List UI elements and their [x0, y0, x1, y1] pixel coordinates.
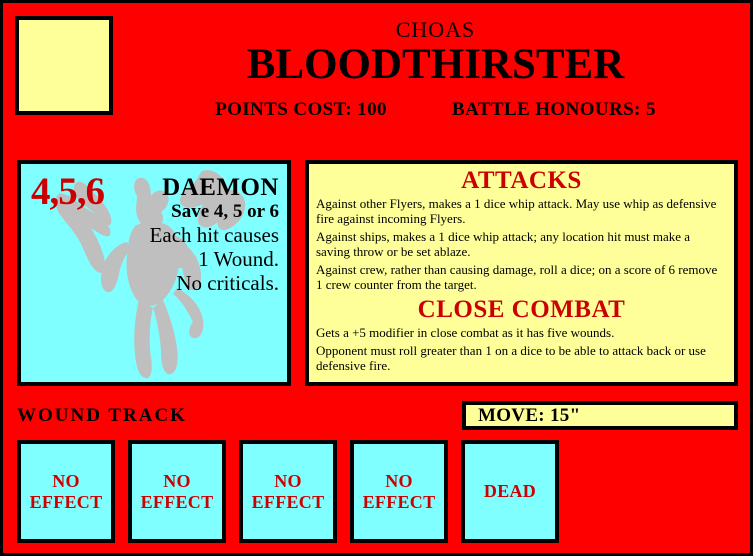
wound-box[interactable]: NO EFFECT	[239, 440, 337, 543]
stat-rule-line: 1 Wound.	[99, 247, 279, 271]
save-value: 4,5,6	[31, 172, 104, 212]
close-combat-paragraph: Gets a +5 modifier in close combat as it…	[316, 325, 727, 340]
faction-name: CHOAS	[123, 17, 748, 43]
points-cost-label: POINTS COST: 100	[215, 99, 387, 120]
save-rule-label: Save 4, 5 or 6	[99, 201, 279, 223]
battle-honours-label: BATTLE HONOURS: 5	[452, 99, 656, 120]
attacks-paragraph: Against other Flyers, makes a 1 dice whi…	[316, 196, 727, 226]
wound-box[interactable]: NO EFFECT	[17, 440, 115, 543]
stat-rule-line: No criticals.	[99, 271, 279, 295]
cost-and-honours: POINTS COST: 100 BATTLE HONOURS: 5	[123, 99, 748, 121]
wound-box-dead[interactable]: DEAD	[461, 440, 559, 543]
attacks-heading: ATTACKS	[316, 167, 727, 195]
close-combat-paragraph: Opponent must roll greater than 1 on a d…	[316, 343, 727, 373]
unit-stat-card: CHOAS BLOODTHIRSTER POINTS COST: 100 BAT…	[0, 0, 753, 556]
card-header: CHOAS BLOODTHIRSTER POINTS COST: 100 BAT…	[123, 17, 748, 121]
stat-panel: 4,5,6 DAEMON Save 4, 5 or 6 Each hit cau…	[17, 160, 291, 386]
stat-rule-line: Each hit causes	[99, 223, 279, 247]
wound-box[interactable]: NO EFFECT	[350, 440, 448, 543]
move-box: MOVE: 15"	[462, 401, 738, 430]
rules-panel: ATTACKS Against other Flyers, makes a 1 …	[305, 160, 738, 386]
page-title: BLOODTHIRSTER	[123, 41, 748, 89]
attacks-paragraph: Against crew, rather than causing damage…	[316, 262, 727, 292]
move-value: MOVE: 15"	[466, 405, 580, 427]
wound-track-label: WOUND TRACK	[17, 405, 187, 427]
unit-type-label: DAEMON	[99, 174, 279, 201]
wound-box[interactable]: NO EFFECT	[128, 440, 226, 543]
wound-track: NO EFFECT NO EFFECT NO EFFECT NO EFFECT …	[17, 440, 559, 543]
attacks-paragraph: Against ships, makes a 1 dice whip attac…	[316, 229, 727, 259]
close-combat-heading: CLOSE COMBAT	[316, 296, 727, 324]
stat-panel-text: DAEMON Save 4, 5 or 6 Each hit causes 1 …	[99, 174, 279, 295]
unit-portrait-placeholder	[15, 16, 113, 115]
